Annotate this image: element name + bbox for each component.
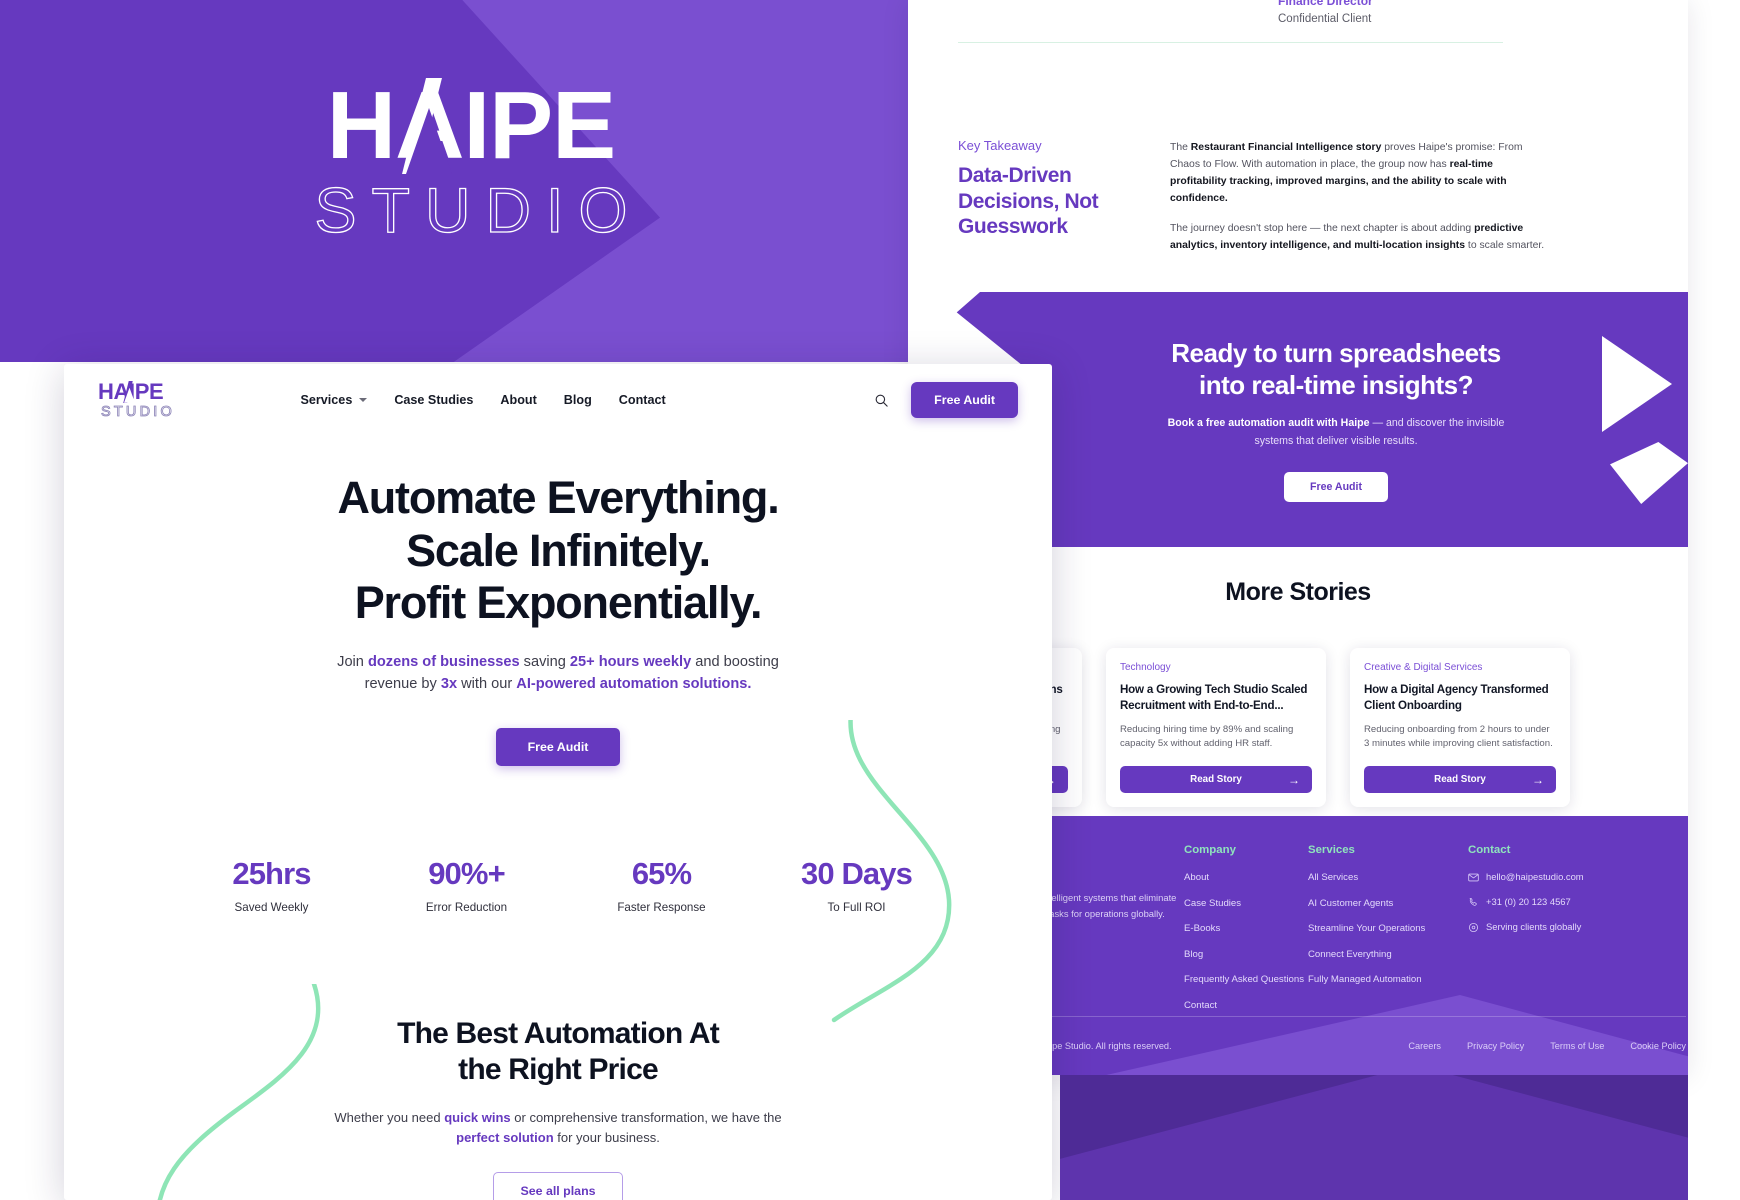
footer-legal-links: Careers Privacy Policy Terms of Use Cook… [1408, 1041, 1686, 1051]
pricing-section: The Best Automation At the Right Price W… [64, 1016, 1052, 1200]
nav-item-blog[interactable]: Blog [564, 393, 592, 407]
pricing-sub-a: Whether you need [334, 1110, 444, 1125]
stat-label: Faster Response [564, 901, 759, 914]
nav-item-services[interactable]: Services [301, 393, 368, 407]
story-card[interactable]: Creative & Digital Services How a Digita… [1350, 648, 1570, 807]
brand-hero-panel: HAIPE STUDIO [0, 0, 908, 362]
story-card[interactable]: Technology How a Growing Tech Studio Sca… [1106, 648, 1326, 807]
nav-item-about[interactable]: About [500, 393, 536, 407]
bottom-slab-diagonal [1060, 1075, 1688, 1200]
navbar-links: Services Case Studies About Blog Contact [301, 393, 750, 407]
site-footer: Crafting intelligent systems that elimin… [956, 816, 1688, 1075]
cta-title-line-2: into real-time insights? [956, 370, 1688, 402]
pricing-sub-c: or comprehensive transformation, we have… [511, 1110, 782, 1125]
stat-value: 25hrs [174, 856, 369, 892]
story-category: Technology [1120, 662, 1312, 673]
hero-free-audit-button[interactable]: Free Audit [496, 728, 621, 766]
mockup-canvas: HAIPE STUDIO Finance Director Confidenti… [0, 0, 1740, 1200]
takeaway-body-copy: The Restaurant Financial Intelligence st… [1170, 140, 1545, 269]
stat-item: 90%+ Error Reduction [369, 856, 564, 914]
footer-link-streamline-operations[interactable]: Streamline Your Operations [1308, 922, 1468, 936]
footer-link-all-services[interactable]: All Services [1308, 871, 1468, 885]
stats-row: 25hrs Saved Weekly 90%+ Error Reduction … [174, 856, 954, 914]
footer-contact-email: hello@haipestudio.com [1486, 871, 1584, 882]
takeaway-heading: Data-Driven Decisions, Not Guesswork [958, 163, 1173, 240]
read-story-label: Read Story [1190, 774, 1242, 785]
footer-link-connect-everything[interactable]: Connect Everything [1308, 948, 1468, 962]
pricing-subtitle: Whether you need quick wins or comprehen… [331, 1108, 786, 1148]
pricing-title-line-2: the Right Price [64, 1052, 1052, 1088]
tp1a: The [1170, 142, 1191, 153]
navbar-logo-submark: STUDIO [98, 405, 176, 420]
footer-link-about[interactable]: About [1184, 871, 1308, 885]
footer-column-services: Services All Services AI Customer Agents… [1308, 844, 1468, 1025]
brand-lockup: HAIPE STUDIO [286, 78, 656, 243]
footer-link-contact[interactable]: Contact [1184, 999, 1308, 1013]
arrow-right-icon: → [1288, 773, 1300, 787]
stat-item: 65% Faster Response [564, 856, 759, 914]
hero-sub-h: AI-powered automation solutions. [516, 676, 751, 692]
story-title: How a Growing Tech Studio Scaled Recruit… [1120, 682, 1312, 714]
site-navbar: HAIPE STUDIO Services Case Studies About… [64, 364, 1052, 436]
nav-item-contact[interactable]: Contact [619, 393, 666, 407]
stat-item: 30 Days To Full ROI [759, 856, 954, 914]
tp1b: Restaurant Financial Intelligence story [1191, 142, 1382, 153]
footer-link-blog[interactable]: Blog [1184, 948, 1308, 962]
footer-contact-email-row[interactable]: hello@haipestudio.com [1468, 871, 1628, 883]
attribution-name: Confidential Client [1278, 13, 1638, 25]
footer-contact-location: Serving clients globally [1486, 921, 1581, 932]
hero-sub-g: with our [457, 676, 516, 692]
pricing-title: The Best Automation At the Right Price [64, 1016, 1052, 1088]
read-story-button[interactable]: Read Story → [1364, 766, 1556, 793]
hero-section: Automate Everything. Scale Infinitely. P… [64, 472, 1052, 766]
footer-legal-terms-of-use[interactable]: Terms of Use [1550, 1041, 1604, 1051]
location-pin-icon [1468, 922, 1479, 933]
pricing-title-line-1: The Best Automation At [64, 1016, 1052, 1052]
stat-value: 90%+ [369, 856, 564, 892]
takeaway-paragraph-1: The Restaurant Financial Intelligence st… [1170, 140, 1545, 207]
footer-link-ebooks[interactable]: E-Books [1184, 922, 1308, 936]
section-divider [958, 42, 1503, 43]
stat-label: To Full ROI [759, 901, 954, 914]
brand-wordmark: HAIPE [286, 78, 656, 174]
navbar-logo-wordmark: HAIPE [98, 381, 176, 403]
footer-column-contact: Contact hello@haipestudio.com +31 (0) 20… [1468, 844, 1628, 1025]
key-takeaway-block: Key Takeaway Data-Driven Decisions, Not … [958, 138, 1173, 240]
cta-title-line-1: Ready to turn spreadsheets [956, 338, 1688, 370]
pricing-sub-d: perfect solution [456, 1130, 554, 1145]
mail-icon [1468, 872, 1479, 883]
stat-item: 25hrs Saved Weekly [174, 856, 369, 914]
quote-attribution: Finance Director Confidential Client [1278, 0, 1638, 25]
hero-headline-line-1: Automate Everything. [64, 472, 1052, 525]
chevron-down-icon [359, 398, 367, 402]
footer-divider [1006, 1016, 1686, 1017]
read-story-label: Read Story [1434, 774, 1486, 785]
footer-column-heading: Company [1184, 844, 1308, 856]
pricing-sub-e: for your business. [554, 1130, 660, 1145]
navbar-free-audit-button[interactable]: Free Audit [911, 382, 1018, 418]
brand-wordmark-text: HAIPE [286, 78, 656, 174]
nav-item-case-studies[interactable]: Case Studies [394, 393, 473, 407]
cta-free-audit-button[interactable]: Free Audit [1284, 472, 1388, 502]
navbar-actions: Free Audit [874, 382, 1018, 418]
search-icon[interactable] [874, 393, 889, 408]
cta-sub-bold: Book a free automation audit with Haipe [1168, 417, 1370, 429]
brand-submark: STUDIO [286, 180, 656, 243]
nav-item-services-label: Services [301, 393, 353, 407]
footer-link-ai-customer-agents[interactable]: AI Customer Agents [1308, 897, 1468, 911]
takeaway-paragraph-2: The journey doesn't stop here — the next… [1170, 221, 1545, 255]
footer-link-fully-managed-automation[interactable]: Fully Managed Automation [1308, 973, 1468, 987]
footer-link-case-studies[interactable]: Case Studies [1184, 897, 1308, 911]
cta-band: Ready to turn spreadsheets into real-tim… [956, 292, 1688, 547]
phone-icon [1468, 897, 1479, 908]
footer-contact-location-row: Serving clients globally [1468, 921, 1628, 933]
hero-sub-c: saving [520, 654, 570, 670]
stat-value: 30 Days [759, 856, 954, 892]
cta-title: Ready to turn spreadsheets into real-tim… [956, 338, 1688, 401]
hero-sub-a: Join [337, 654, 368, 670]
tp2c: to scale smarter. [1465, 240, 1544, 251]
hero-sub-d: 25+ hours weekly [570, 654, 691, 670]
story-description: Reducing hiring time by 89% and scaling … [1120, 723, 1312, 752]
hero-headline: Automate Everything. Scale Infinitely. P… [64, 472, 1052, 630]
hero-sub-b: dozens of businesses [368, 654, 520, 670]
navbar-logo[interactable]: HAIPE STUDIO [98, 381, 176, 420]
hero-subtitle: Join dozens of businesses saving 25+ hou… [323, 652, 793, 696]
footer-contact-phone: +31 (0) 20 123 4567 [1486, 896, 1571, 907]
hero-sub-f: 3x [441, 676, 457, 692]
story-title: How a Digital Agency Transformed Client … [1364, 682, 1556, 714]
stat-label: Saved Weekly [174, 901, 369, 914]
tp2a: The journey doesn't stop here — the next… [1170, 223, 1474, 234]
arrow-right-icon: → [1532, 773, 1544, 787]
attribution-role: Finance Director [1278, 0, 1638, 8]
read-story-button[interactable]: Read Story → [1120, 766, 1312, 793]
stat-value: 65% [564, 856, 759, 892]
hero-headline-line-3: Profit Exponentially. [64, 577, 1052, 630]
footer-legal-careers[interactable]: Careers [1408, 1041, 1441, 1051]
pricing-sub-b: quick wins [444, 1110, 510, 1125]
story-category: Creative & Digital Services [1364, 662, 1556, 673]
stat-label: Error Reduction [369, 901, 564, 914]
bottom-purple-slab [1060, 1075, 1688, 1200]
footer-column-company: Company About Case Studies E-Books Blog … [1184, 844, 1308, 1025]
footer-contact-phone-row[interactable]: +31 (0) 20 123 4567 [1468, 896, 1628, 908]
homepage-mockup-card: HAIPE STUDIO Services Case Studies About… [64, 364, 1052, 1200]
see-all-plans-button[interactable]: See all plans [493, 1172, 622, 1200]
footer-bottom-bar: © 2025 Haipe Studio. All rights reserved… [1006, 1041, 1686, 1051]
takeaway-kicker: Key Takeaway [958, 138, 1173, 153]
footer-legal-cookie-policy[interactable]: Cookie Policy [1630, 1041, 1686, 1051]
footer-column-heading: Services [1308, 844, 1468, 856]
footer-columns: Crafting intelligent systems that elimin… [966, 844, 1688, 1025]
footer-column-heading: Contact [1468, 844, 1628, 856]
story-description: Reducing onboarding from 2 hours to unde… [1364, 723, 1556, 752]
cta-subtitle: Book a free automation audit with Haipe … [1156, 415, 1516, 449]
footer-link-faq[interactable]: Frequently Asked Questions [1184, 973, 1308, 987]
footer-legal-privacy-policy[interactable]: Privacy Policy [1467, 1041, 1524, 1051]
hero-headline-line-2: Scale Infinitely. [64, 525, 1052, 578]
navbar-logo-text: HAIPE [98, 381, 176, 403]
cta-content: Ready to turn spreadsheets into real-tim… [956, 338, 1688, 502]
